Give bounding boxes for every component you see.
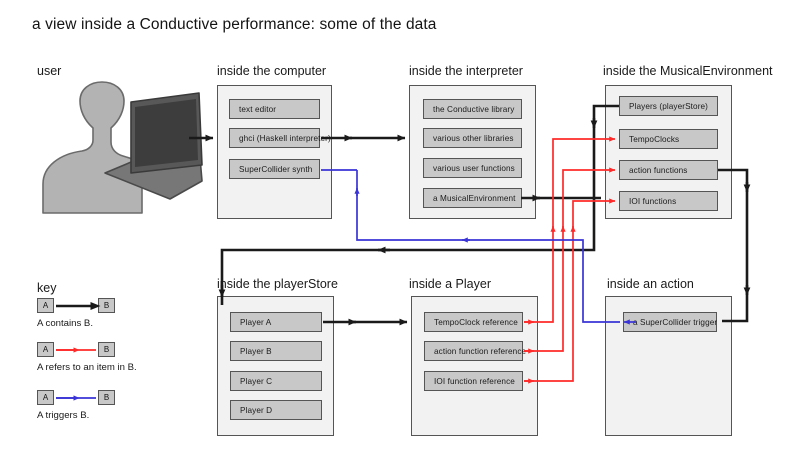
- node-action-function-reference[interactable]: action function reference: [424, 341, 523, 361]
- node-tempoclocks[interactable]: TempoClocks: [619, 129, 718, 149]
- node-conductive-library[interactable]: the Conductive library: [423, 99, 522, 119]
- node-player-a[interactable]: Player A: [230, 312, 322, 332]
- node-ioi-functions[interactable]: IOI functions: [619, 191, 718, 211]
- wire-tempoclock-ref: [524, 139, 615, 322]
- node-player-b[interactable]: Player B: [230, 341, 322, 361]
- caption-user: user: [37, 64, 61, 78]
- key-contains-description: A contains B.: [37, 318, 93, 329]
- node-ioi-function-reference[interactable]: IOI function reference: [424, 371, 523, 391]
- node-player-c[interactable]: Player C: [230, 371, 322, 391]
- key-triggers-description: A triggers B.: [37, 410, 89, 421]
- key-triggers-to: B: [98, 390, 115, 405]
- key-refers-from: A: [37, 342, 54, 357]
- node-player-d[interactable]: Player D: [230, 400, 322, 420]
- node-user-functions[interactable]: various user functions: [423, 158, 522, 178]
- node-action-functions[interactable]: action functions: [619, 160, 718, 180]
- key-refers-description: A refers to an item in B.: [37, 362, 137, 373]
- page-title: a view inside a Conductive performance: …: [32, 16, 437, 34]
- key-contains-to: B: [98, 298, 115, 313]
- caption-player: inside a Player: [409, 277, 491, 291]
- caption-interpreter: inside the interpreter: [409, 64, 523, 78]
- node-supercollider-trigger[interactable]: a SuperCollider trigger: [623, 312, 717, 332]
- diagram-canvas: a view inside a Conductive performance: …: [0, 0, 800, 459]
- user-figure: [30, 80, 205, 215]
- node-tempoclock-reference[interactable]: TempoClock reference: [424, 312, 523, 332]
- node-text-editor[interactable]: text editor: [229, 99, 320, 119]
- caption-musicalenvironment: inside the MusicalEnvironment: [603, 64, 773, 78]
- key-triggers-from: A: [37, 390, 54, 405]
- key-refers-to: B: [98, 342, 115, 357]
- caption-action: inside an action: [607, 277, 694, 291]
- node-musicalenvironment[interactable]: a MusicalEnvironment: [423, 188, 522, 208]
- caption-computer: inside the computer: [217, 64, 326, 78]
- key-heading: key: [37, 281, 56, 295]
- node-other-libraries[interactable]: various other libraries: [423, 128, 522, 148]
- key-contains-from: A: [37, 298, 54, 313]
- caption-playerstore: inside the playerStore: [217, 277, 338, 291]
- node-supercollider-synth[interactable]: SuperCollider synth: [229, 159, 320, 179]
- node-players-playerstore[interactable]: Players (playerStore): [619, 96, 718, 116]
- node-ghci[interactable]: ghci (Haskell interpreter): [229, 128, 320, 148]
